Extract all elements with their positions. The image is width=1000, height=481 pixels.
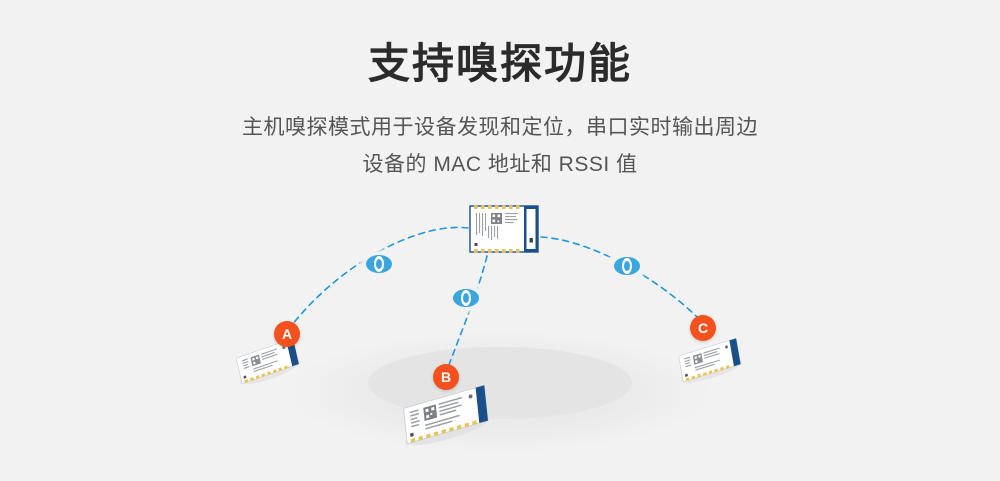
- marker-b: B: [433, 364, 459, 390]
- eye-pupil: [376, 259, 382, 269]
- signal-arc-c: [541, 237, 704, 324]
- page-root: 支持嗅探功能 主机嗅探模式用于设备发现和定位，串口实时输出周边 设备的 MAC …: [0, 0, 1000, 481]
- diagram-canvas: [0, 0, 1000, 481]
- eye-pupil: [463, 293, 469, 303]
- eye-icon-mid: [449, 286, 483, 310]
- eye-icon-right: [610, 254, 644, 278]
- sniffer-host-module: [470, 206, 538, 253]
- marker-c: C: [690, 315, 716, 341]
- marker-a: A: [274, 321, 300, 347]
- sniffer-diagram: A B C: [0, 0, 1000, 481]
- eye-pupil: [624, 261, 630, 271]
- eye-icon-left: [362, 252, 396, 276]
- signal-arc-a: [288, 227, 468, 330]
